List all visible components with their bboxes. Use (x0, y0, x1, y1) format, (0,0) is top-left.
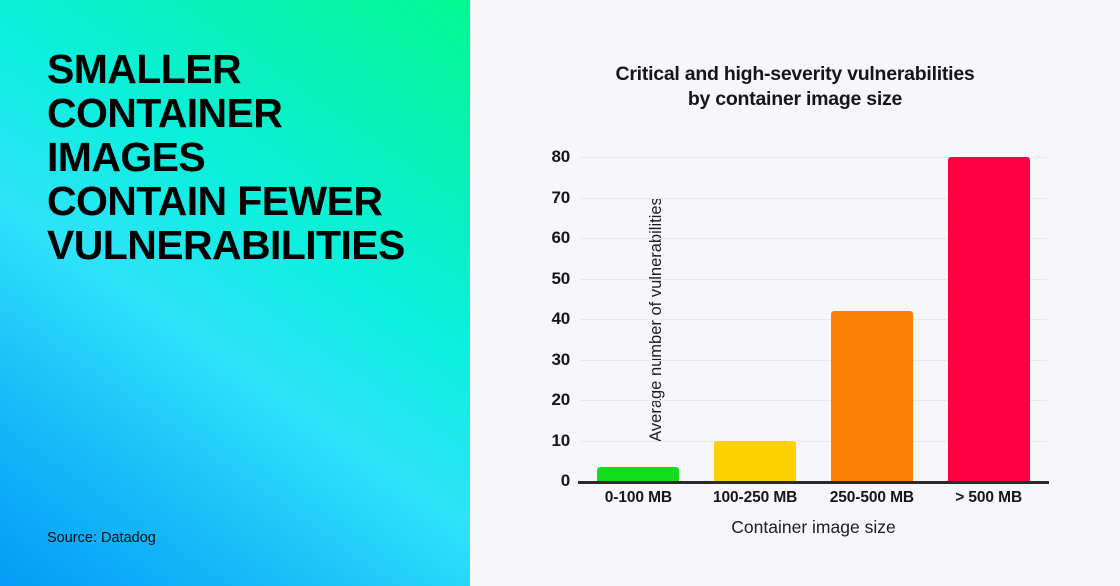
headline-line-1: SMALLER (47, 47, 447, 91)
x-axis-tick-label: 100-250 MB (697, 489, 814, 507)
headline-line-4: CONTAIN FEWER (47, 179, 447, 223)
chart-panel: Critical and high-severity vulnerabiliti… (470, 0, 1120, 586)
y-axis-tick-label: 10 (551, 431, 570, 451)
bar[interactable] (597, 467, 679, 481)
x-axis-line (578, 481, 1049, 484)
y-axis-tick-label: 60 (551, 228, 570, 248)
y-axis-tick-label: 20 (551, 390, 570, 410)
y-axis-tick-label: 70 (551, 188, 570, 208)
y-axis-tick-label: 80 (551, 147, 570, 167)
hero-headline: SMALLER CONTAINER IMAGES CONTAIN FEWER V… (47, 47, 447, 267)
x-axis-tick-label: 250-500 MB (814, 489, 931, 507)
bar[interactable] (831, 311, 913, 481)
headline-line-5: VULNERABILITIES (47, 223, 447, 267)
bar[interactable] (714, 441, 796, 482)
chart-title: Critical and high-severity vulnerabiliti… (470, 62, 1120, 112)
chart-title-line-1: Critical and high-severity vulnerabiliti… (615, 63, 974, 85)
y-axis-tick-label: 40 (551, 309, 570, 329)
plot-area: 010203040506070800-100 MB100-250 MB250-5… (580, 157, 1047, 481)
y-axis-tick-label: 0 (561, 471, 570, 491)
y-axis-tick-label: 30 (551, 350, 570, 370)
headline-line-2: CONTAINER (47, 91, 447, 135)
x-axis-tick-label: 0-100 MB (580, 489, 697, 507)
headline-line-3: IMAGES (47, 135, 447, 179)
infographic-root: SMALLER CONTAINER IMAGES CONTAIN FEWER V… (0, 0, 1120, 586)
x-axis-tick-label: > 500 MB (930, 489, 1047, 507)
source-attribution: Source: Datadog (47, 530, 156, 546)
chart-title-line-2: by container image size (522, 87, 1068, 112)
hero-panel: SMALLER CONTAINER IMAGES CONTAIN FEWER V… (0, 0, 470, 586)
y-axis-tick-label: 50 (551, 269, 570, 289)
bar[interactable] (948, 157, 1030, 481)
x-axis-title: Container image size (580, 517, 1047, 538)
